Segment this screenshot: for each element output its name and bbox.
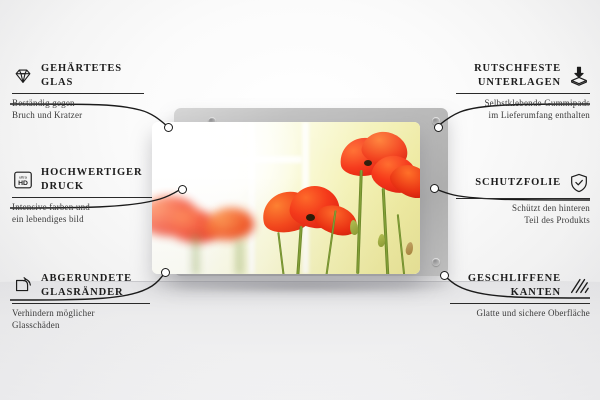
feature-desc-line2: ein lebendiges bild [12, 214, 152, 226]
feature-divider [456, 198, 590, 199]
connector-dot [164, 123, 173, 132]
feature-desc-line1: Selbstklebende Gummipads [456, 98, 590, 110]
feature-rounded-edges: ABGERUNDETE GLASRÄNDER Verhindern möglic… [12, 272, 150, 331]
product-shadow [162, 278, 452, 294]
feature-desc-line1: Glatte und sichere Oberfläche [450, 308, 590, 320]
rounded-corner-icon [12, 275, 34, 297]
feature-divider [12, 197, 152, 198]
feature-title: RUTSCHFESTE [474, 62, 561, 76]
feature-desc-line1: Verhindern möglicher [12, 308, 150, 320]
feature-protective-film: SCHUTZFOLIE Schützt den hinteren Teil de… [456, 172, 590, 226]
feature-polished-edges: GESCHLIFFENE KANTEN Glatte und sichere O… [450, 272, 590, 320]
feature-title-line2: DRUCK [41, 180, 142, 194]
feature-high-quality-print: ultra HD HOCHWERTIGER DRUCK Intensive fa… [12, 166, 152, 225]
feature-title: ABGERUNDETE [41, 272, 132, 286]
poppy-photo [152, 122, 420, 274]
feature-divider [456, 93, 590, 94]
feature-title: GESCHLIFFENE [468, 272, 561, 286]
feature-desc-line2: im Lieferumfang enthalten [456, 110, 590, 122]
feature-desc-line1: Intensive farben und [12, 202, 152, 214]
connector-dot [161, 268, 170, 277]
feature-tempered-glass: GEHÄRTETES GLAS Beständig gegen Bruch un… [12, 62, 144, 121]
feature-divider [12, 303, 150, 304]
anti-slip-pad-icon [568, 65, 590, 87]
connector-dot [178, 185, 187, 194]
feature-desc-line1: Schützt den hinteren [456, 203, 590, 215]
ultra-hd-badge-icon: ultra HD [12, 169, 34, 191]
connector-dot [434, 123, 443, 132]
connector-dot [440, 271, 449, 280]
diamond-icon [12, 65, 34, 87]
glass-panel-with-print [152, 122, 420, 274]
feature-title: SCHUTZFOLIE [475, 176, 561, 190]
feature-anti-slip-pads: RUTSCHFESTE UNTERLAGEN Selbstklebende Gu… [456, 62, 590, 121]
feature-desc-line2: Teil des Produkts [456, 215, 590, 227]
feature-desc-line2: Glasschäden [12, 320, 150, 332]
polished-edges-icon [568, 275, 590, 297]
feature-title-line2: GLAS [41, 76, 122, 90]
feature-desc-line2: Bruch und Kratzer [12, 110, 144, 122]
feature-title-line2: GLASRÄNDER [41, 286, 132, 300]
shield-check-icon [568, 172, 590, 194]
feature-divider [450, 303, 590, 304]
feature-divider [12, 93, 144, 94]
feature-title-line2: KANTEN [468, 286, 561, 300]
feature-title-line2: UNTERLAGEN [474, 76, 561, 90]
connector-dot [430, 184, 439, 193]
feature-title: HOCHWERTIGER [41, 166, 142, 180]
feature-title: GEHÄRTETES [41, 62, 122, 76]
feature-desc-line1: Beständig gegen [12, 98, 144, 110]
svg-text:HD: HD [18, 180, 28, 187]
product-image [152, 108, 448, 288]
mount-hole [432, 258, 440, 266]
svg-text:ultra: ultra [19, 174, 28, 179]
